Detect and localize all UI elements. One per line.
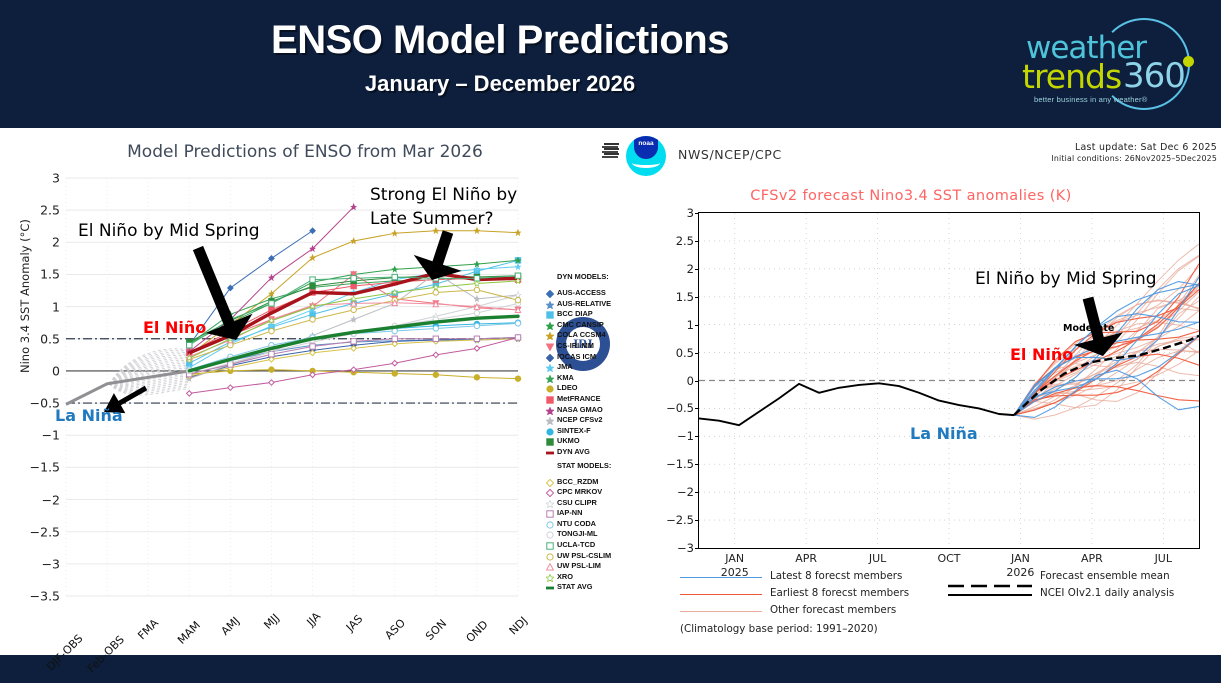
- update-info: Last update: Sat Dec 6 2025 Initial cond…: [1051, 142, 1217, 163]
- cpc-y-tick-label: 1.5: [676, 290, 694, 304]
- cpc-y-tick-label: 2: [687, 262, 694, 276]
- iri-y-tick-label: −3.5: [30, 589, 60, 604]
- iri-y-axis-label: Nino 3.4 SST Anomaly (°C): [18, 219, 32, 373]
- cpc-x-tick-month: APR: [795, 552, 817, 565]
- cpc-y-tick-label: −2.5: [666, 513, 694, 527]
- legend-item-label: DYN AVG: [557, 447, 590, 456]
- cpc-plot-area: 32.521.510.50−0.5−1−1.5−2−2.5−3JAN2025AP…: [698, 212, 1200, 549]
- legend-swatch-latest: [680, 577, 762, 578]
- logo-word-360: 360: [1123, 56, 1185, 96]
- cpc-y-tick-label: 0: [687, 374, 694, 388]
- cpc-y-tick-label: 3: [687, 206, 694, 220]
- cpc-y-tick-mark: [695, 520, 699, 521]
- page-title: ENSO Model Predictions: [0, 18, 1000, 63]
- menu-icon[interactable]: [604, 143, 619, 155]
- cpc-x-tick-month: OCT: [937, 552, 960, 565]
- iri-enso-plume-chart: Model Predictions of ENSO from Mar 2026 …: [0, 130, 620, 655]
- iri-y-tick-label: 2: [52, 235, 60, 250]
- cpc-cfsv2-chart: noaa NWS/NCEP/CPC Last update: Sat Dec 6…: [596, 130, 1221, 655]
- legend-swatch-earliest: [680, 594, 762, 595]
- cpc-x-tick-month: JUL: [1155, 552, 1172, 565]
- agency-label: NWS/NCEP/CPC: [678, 147, 782, 162]
- iri-y-tick-label: −2.5: [30, 524, 60, 539]
- cpc-y-tick-mark: [695, 269, 699, 270]
- annotation-mid-spring-right: El Niño by Mid Spring: [975, 270, 1157, 290]
- annotation-la-nina-left: La Niña: [55, 406, 123, 425]
- annotation-mid-spring-left: El Niño by Mid Spring: [78, 222, 260, 242]
- iri-y-tick-label: 0: [52, 363, 60, 378]
- moderate-label: Moderate: [1063, 323, 1114, 334]
- iri-y-tick-label: −1: [42, 428, 60, 443]
- slide-root: ENSO Model Predictions January – Decembe…: [0, 0, 1221, 683]
- cpc-x-tick-month: JAN: [725, 552, 744, 565]
- cpc-y-tick-label: −2: [677, 485, 694, 499]
- annotation-late-summer-line2: Late Summer?: [370, 210, 494, 230]
- legend-marker-icon: [546, 444, 554, 452]
- cpc-legend: Latest 8 forecst membersEarliest 8 forec…: [680, 570, 1210, 640]
- cpc-y-tick-mark: [695, 297, 699, 298]
- cpc-y-tick-mark: [695, 492, 699, 493]
- cpc-y-tick-label: 1: [687, 318, 694, 332]
- annotation-la-nina-right: La Niña: [910, 424, 978, 443]
- slide-header: ENSO Model Predictions January – Decembe…: [0, 0, 1221, 128]
- cpc-y-tick-label: −0.5: [666, 401, 694, 415]
- annotation-el-nino-right: El Niño: [1010, 345, 1073, 364]
- iri-y-tick-label: 1.5: [40, 267, 60, 282]
- page-subtitle: January – December 2026: [0, 71, 1000, 97]
- annotation-el-nino-left: El Niño: [143, 318, 206, 337]
- iri-y-tick-label: −2: [42, 492, 60, 507]
- cpc-x-tick-month: JUL: [869, 552, 886, 565]
- iri-y-tick-label: 2.5: [40, 203, 60, 218]
- title-block: ENSO Model Predictions January – Decembe…: [0, 18, 1000, 97]
- cpc-y-tick-label: −1.5: [666, 457, 694, 471]
- cpc-y-tick-mark: [695, 548, 699, 549]
- legend-swatch-analysis: [948, 594, 1032, 596]
- cpc-y-tick-mark: [695, 241, 699, 242]
- cpc-y-tick-label: 0.5: [676, 346, 694, 360]
- cpc-y-tick-label: 2.5: [676, 234, 694, 248]
- cpc-plot-svg: [699, 213, 1199, 548]
- cpc-y-tick-mark: [695, 325, 699, 326]
- iri-y-tick-label: −3: [42, 556, 60, 571]
- legend-label-other: Other forecast members: [770, 604, 896, 616]
- cpc-y-tick-label: −1: [677, 429, 694, 443]
- cpc-chart-title: CFSv2 forecast Nino3.4 SST anomalies (K): [676, 188, 1146, 204]
- cpc-x-tick-month: APR: [1081, 552, 1103, 565]
- iri-plot-svg: [66, 178, 518, 683]
- last-update-text: Last update: Sat Dec 6 2025: [1051, 142, 1217, 153]
- iri-y-tick-label: 3: [52, 171, 60, 186]
- cpc-x-tick-label: OCT: [937, 552, 960, 565]
- legend-label-earliest: Earliest 8 forecst members: [770, 587, 909, 599]
- cpc-y-tick-mark: [695, 464, 699, 465]
- legend-swatch-other: [680, 611, 762, 612]
- legend-swatch-ensemble-mean: [948, 575, 1032, 578]
- cpc-y-tick-mark: [695, 213, 699, 214]
- cpc-x-tick-label: APR: [795, 552, 817, 565]
- cpc-y-tick-mark: [695, 436, 699, 437]
- cpc-y-tick-label: −3: [677, 541, 694, 555]
- cpc-x-tick-label: JUL: [869, 552, 886, 565]
- cpc-y-tick-mark: [695, 408, 699, 409]
- cpc-x-tick-month: JAN: [1011, 552, 1030, 565]
- cpc-x-tick-label: APR: [1081, 552, 1103, 565]
- cpc-x-tick-label: JUL: [1155, 552, 1172, 565]
- cpc-y-tick-mark: [695, 353, 699, 354]
- iri-plot-area: Nino 3.4 SST Anomaly (°C) 32.521.510.50−…: [66, 178, 518, 683]
- iri-y-tick-label: 0.5: [40, 331, 60, 346]
- iri-chart-title: Model Predictions of ENSO from Mar 2026: [110, 142, 500, 162]
- iri-y-tick-label: −1.5: [30, 460, 60, 475]
- logo-word-trends: trends: [1022, 57, 1121, 96]
- initial-conditions-text: Initial conditions: 26Nov2025–5Dec2025: [1051, 154, 1217, 163]
- iri-y-tick-label: 1: [52, 299, 60, 314]
- legend-label-ensemble-mean: Forecast ensemble mean: [1040, 570, 1170, 582]
- cpc-y-tick-mark: [695, 381, 699, 382]
- legend-label-analysis: NCEI OIv2.1 daily analysis: [1040, 587, 1174, 599]
- logo-tagline: better business in any weather®: [1034, 95, 1147, 104]
- legend-item-label: STAT AVG: [557, 582, 592, 591]
- noaa-logo: noaa: [626, 136, 666, 176]
- legend-label-latest: Latest 8 forecst members: [770, 570, 902, 582]
- annotation-late-summer-line1: Strong El Niño by: [370, 186, 517, 206]
- legend-marker-icon: [546, 579, 554, 587]
- legend-climatology-note: (Climatology base period: 1991–2020): [680, 623, 878, 635]
- weathertrends360-logo: weather trends 360 better business in an…: [1020, 16, 1215, 116]
